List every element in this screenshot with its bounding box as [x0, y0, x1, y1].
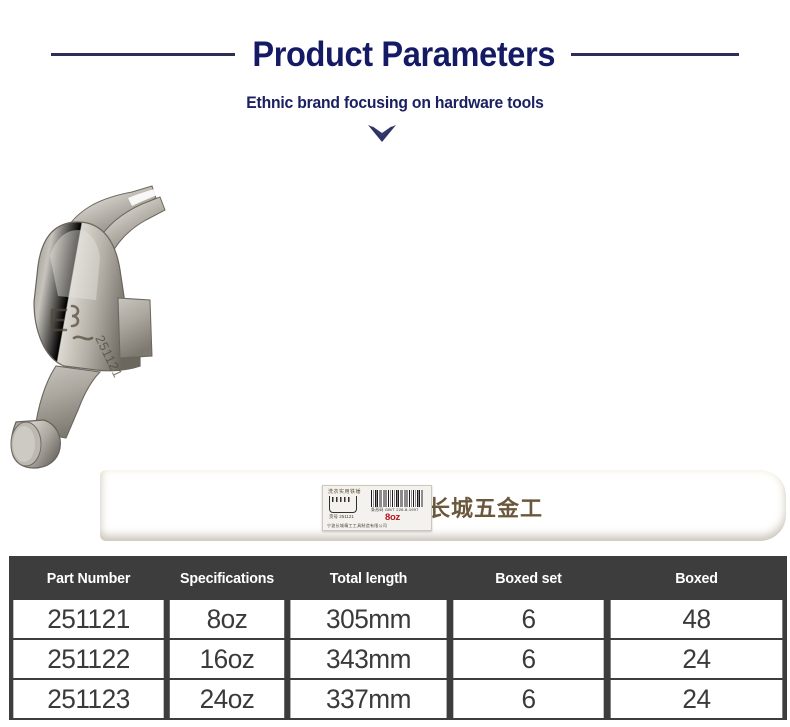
cell-total-length: 343mm	[290, 640, 446, 678]
cell-boxed-set: 6	[453, 680, 603, 718]
column-header-boxed-set: Boxed set	[455, 558, 602, 598]
column-header-part-number: Part Number	[15, 558, 162, 598]
handle-brand-text: 长城五金工	[428, 494, 568, 524]
cell-part-number: 251122	[13, 640, 163, 678]
cell-boxed: 24	[611, 680, 783, 718]
page-subtitle: Ethnic brand focusing on hardware tools	[20, 94, 771, 113]
hammer-head: 251121	[0, 170, 200, 550]
cell-boxed-set: 6	[453, 640, 603, 678]
cell-boxed: 48	[611, 600, 783, 638]
cell-boxed-set: 6	[453, 600, 603, 638]
table-row: 251122 16oz 343mm 6 24	[11, 640, 785, 678]
barcode-icon	[371, 490, 423, 507]
table-row: 251123 24oz 337mm 6 24	[11, 680, 785, 718]
page-header: Product Parameters Ethnic brand focusing…	[0, 0, 790, 170]
title-row: Product Parameters	[0, 30, 790, 78]
column-header-total-length: Total length	[292, 558, 445, 598]
cell-specifications: 16oz	[170, 640, 284, 678]
cell-boxed: 24	[611, 640, 783, 678]
specifications-table: Part Number Specifications Total length …	[9, 556, 781, 720]
product-image: 长城五金工 洗衣实用铁锤 货号 251121 条形码 GB/T 226.8-19…	[0, 170, 790, 550]
chevron-down-icon	[366, 124, 398, 144]
title-rule-right	[571, 53, 739, 56]
product-label: 洗衣实用铁锤 货号 251121 条形码 GB/T 226.8-1997 8oz…	[322, 485, 432, 531]
label-company: 宁波长城精工工具制造有限公司	[327, 523, 427, 529]
label-spec: 8oz	[385, 512, 400, 523]
label-code: 货号 251121	[329, 514, 354, 520]
cell-specifications: 24oz	[170, 680, 284, 718]
cell-part-number: 251123	[13, 680, 163, 718]
cell-total-length: 305mm	[290, 600, 446, 638]
wash-care-icon	[329, 496, 357, 513]
cell-total-length: 337mm	[290, 680, 446, 718]
cell-specifications: 8oz	[170, 600, 284, 638]
page-title: Product Parameters	[253, 37, 556, 72]
title-rule-left	[51, 53, 235, 56]
table-header-row: Part Number Specifications Total length …	[11, 558, 785, 598]
label-title-cn: 洗衣实用铁锤	[328, 488, 361, 495]
column-header-boxed: Boxed	[612, 558, 780, 598]
column-header-specifications: Specifications	[171, 558, 283, 598]
table-row: 251121 8oz 305mm 6 48	[11, 600, 785, 638]
params-table: Part Number Specifications Total length …	[9, 556, 787, 720]
cell-part-number: 251121	[13, 600, 163, 638]
